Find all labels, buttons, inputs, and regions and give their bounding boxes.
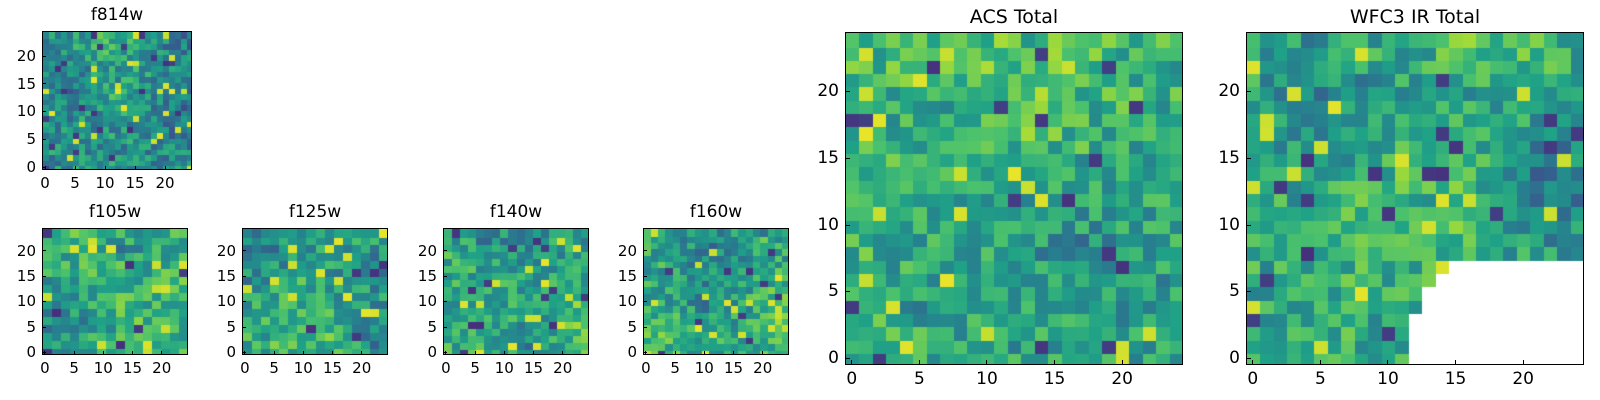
ytick-acs-total-4	[845, 91, 850, 92]
panel-title-wfc3-ir-total: WFC3 IR Total	[1246, 6, 1584, 28]
heatmap-axes-f160w	[643, 228, 789, 355]
xtick-label-f160w-4: 20	[733, 359, 793, 377]
ytick-label-f140w-2: 10	[399, 292, 437, 310]
xtick-label-f140w-4: 20	[533, 359, 593, 377]
heatmap-axes-acs-total	[845, 32, 1183, 365]
panel-f160w: f160w0510152005101520	[603, 202, 799, 379]
ytick-label-acs-total-1: 5	[801, 281, 839, 301]
heatmap-image-f160w	[644, 229, 789, 355]
ytick-label-wfc3-ir-total-0: 0	[1202, 348, 1240, 368]
panel-title-acs-total: ACS Total	[845, 6, 1183, 28]
xtick-f105w-2	[103, 351, 104, 355]
xtick-f125w-2	[303, 351, 304, 355]
ytick-label-f814w-3: 15	[0, 75, 36, 93]
ytick-f105w-0	[42, 352, 46, 353]
panel-title-f814w: f814w	[42, 5, 192, 25]
ytick-acs-total-0	[845, 358, 850, 359]
ytick-wfc3-ir-total-1	[1246, 291, 1251, 292]
ytick-label-f125w-0: 0	[198, 343, 236, 361]
ytick-f160w-0	[643, 352, 647, 353]
ytick-f160w-4	[643, 250, 647, 251]
panel-wfc3-ir-total: WFC3 IR Total0510152005101520	[1206, 6, 1594, 389]
xtick-label-acs-total-0: 0	[822, 369, 882, 389]
ytick-label-acs-total-2: 10	[801, 215, 839, 235]
ytick-acs-total-3	[845, 158, 850, 159]
xtick-acs-total-4	[1122, 360, 1123, 365]
ytick-wfc3-ir-total-0	[1246, 358, 1251, 359]
xtick-f814w-1	[75, 166, 76, 170]
panel-f140w: f140w0510152005101520	[403, 202, 599, 379]
panel-title-f105w: f105w	[42, 202, 188, 222]
ytick-label-f105w-4: 20	[0, 242, 36, 260]
xtick-f140w-1	[475, 351, 476, 355]
xtick-f105w-3	[132, 351, 133, 355]
xtick-wfc3-ir-total-2	[1387, 360, 1388, 365]
ytick-label-f814w-4: 20	[0, 47, 36, 65]
ytick-f814w-1	[42, 139, 46, 140]
ytick-label-f160w-4: 20	[599, 242, 637, 260]
ytick-label-acs-total-3: 15	[801, 148, 839, 168]
ytick-f814w-0	[42, 167, 46, 168]
ytick-wfc3-ir-total-2	[1246, 225, 1251, 226]
xtick-label-wfc3-ir-total-0: 0	[1223, 369, 1283, 389]
ytick-acs-total-1	[845, 291, 850, 292]
ytick-f140w-2	[443, 301, 447, 302]
ytick-f105w-2	[42, 301, 46, 302]
ytick-f160w-2	[643, 301, 647, 302]
xtick-label-wfc3-ir-total-1: 5	[1290, 369, 1350, 389]
ytick-wfc3-ir-total-4	[1246, 91, 1251, 92]
heatmap-image-f140w	[444, 229, 589, 355]
xtick-f140w-2	[504, 351, 505, 355]
xtick-f105w-1	[74, 351, 75, 355]
ytick-label-f140w-4: 20	[399, 242, 437, 260]
ytick-label-f160w-2: 10	[599, 292, 637, 310]
panel-f105w: f105w0510152005101520	[2, 202, 198, 379]
heatmap-image-f105w	[43, 229, 188, 355]
ytick-f125w-0	[242, 352, 246, 353]
xtick-label-acs-total-2: 10	[957, 369, 1017, 389]
xtick-f140w-3	[533, 351, 534, 355]
xtick-f814w-4	[165, 166, 166, 170]
ytick-wfc3-ir-total-3	[1246, 158, 1251, 159]
heatmap-image-f814w	[43, 32, 192, 170]
ytick-label-acs-total-4: 20	[801, 81, 839, 101]
xtick-f140w-4	[562, 351, 563, 355]
ytick-f140w-4	[443, 250, 447, 251]
heatmap-axes-f140w	[443, 228, 589, 355]
xtick-acs-total-2	[986, 360, 987, 365]
ytick-f125w-4	[242, 250, 246, 251]
xtick-f814w-2	[105, 166, 106, 170]
ytick-label-f814w-0: 0	[0, 158, 36, 176]
ytick-label-f140w-0: 0	[399, 343, 437, 361]
panel-title-f125w: f125w	[242, 202, 388, 222]
ytick-label-wfc3-ir-total-1: 5	[1202, 281, 1240, 301]
ytick-acs-total-2	[845, 225, 850, 226]
ytick-label-f814w-2: 10	[0, 102, 36, 120]
xtick-acs-total-3	[1054, 360, 1055, 365]
xtick-f160w-4	[762, 351, 763, 355]
xtick-acs-total-0	[851, 360, 852, 365]
panel-title-f160w: f160w	[643, 202, 789, 222]
ytick-label-f125w-1: 5	[198, 318, 236, 336]
heatmap-axes-f814w	[42, 31, 192, 170]
xtick-label-f125w-4: 20	[332, 359, 392, 377]
heatmap-image-f125w	[243, 229, 388, 355]
ytick-f140w-0	[443, 352, 447, 353]
panel-f814w: f814w0510152005101520	[2, 5, 202, 194]
ytick-label-wfc3-ir-total-3: 15	[1202, 148, 1240, 168]
ytick-label-f125w-3: 15	[198, 267, 236, 285]
ytick-label-f140w-3: 15	[399, 267, 437, 285]
xtick-f125w-1	[274, 351, 275, 355]
xtick-label-acs-total-1: 5	[889, 369, 949, 389]
ytick-f105w-3	[42, 276, 46, 277]
ytick-label-f160w-3: 15	[599, 267, 637, 285]
ytick-label-wfc3-ir-total-2: 10	[1202, 215, 1240, 235]
heatmap-axes-f125w	[242, 228, 388, 355]
ytick-f140w-1	[443, 327, 447, 328]
heatmap-image-wfc3-ir-total	[1247, 33, 1584, 365]
ytick-label-acs-total-0: 0	[801, 348, 839, 368]
xtick-label-acs-total-3: 15	[1025, 369, 1085, 389]
xtick-label-wfc3-ir-total-2: 10	[1358, 369, 1418, 389]
ytick-label-f105w-3: 15	[0, 267, 36, 285]
xtick-wfc3-ir-total-1	[1320, 360, 1321, 365]
xtick-wfc3-ir-total-3	[1455, 360, 1456, 365]
xtick-f105w-4	[161, 351, 162, 355]
ytick-label-wfc3-ir-total-4: 20	[1202, 81, 1240, 101]
ytick-f105w-1	[42, 327, 46, 328]
xtick-f160w-1	[675, 351, 676, 355]
ytick-label-f814w-1: 5	[0, 130, 36, 148]
heatmap-image-acs-total	[846, 33, 1183, 365]
xtick-label-acs-total-4: 20	[1092, 369, 1152, 389]
ytick-f160w-3	[643, 276, 647, 277]
xtick-f160w-3	[733, 351, 734, 355]
ytick-f140w-3	[443, 276, 447, 277]
ytick-label-f160w-0: 0	[599, 343, 637, 361]
xtick-label-wfc3-ir-total-3: 15	[1426, 369, 1486, 389]
xtick-wfc3-ir-total-4	[1523, 360, 1524, 365]
xtick-f160w-2	[704, 351, 705, 355]
ytick-f160w-1	[643, 327, 647, 328]
panel-title-f140w: f140w	[443, 202, 589, 222]
ytick-label-f105w-0: 0	[0, 343, 36, 361]
heatmap-axes-wfc3-ir-total	[1246, 32, 1584, 365]
ytick-f125w-2	[242, 301, 246, 302]
ytick-label-f125w-4: 20	[198, 242, 236, 260]
xtick-wfc3-ir-total-0	[1252, 360, 1253, 365]
ytick-f125w-3	[242, 276, 246, 277]
ytick-f814w-3	[42, 83, 46, 84]
ytick-label-f105w-2: 10	[0, 292, 36, 310]
ytick-f814w-2	[42, 111, 46, 112]
ytick-f105w-4	[42, 250, 46, 251]
ytick-label-f160w-1: 5	[599, 318, 637, 336]
xtick-label-f814w-4: 20	[135, 174, 195, 192]
panel-f125w: f125w0510152005101520	[202, 202, 398, 379]
xtick-label-wfc3-ir-total-4: 20	[1493, 369, 1553, 389]
panel-acs-total: ACS Total0510152005101520	[805, 6, 1193, 389]
ytick-f814w-4	[42, 56, 46, 57]
ytick-label-f125w-2: 10	[198, 292, 236, 310]
xtick-acs-total-1	[919, 360, 920, 365]
ytick-label-f140w-1: 5	[399, 318, 437, 336]
xtick-f125w-4	[361, 351, 362, 355]
xtick-f125w-3	[332, 351, 333, 355]
ytick-label-f105w-1: 5	[0, 318, 36, 336]
xtick-f814w-3	[135, 166, 136, 170]
xtick-label-f105w-4: 20	[132, 359, 192, 377]
heatmap-axes-f105w	[42, 228, 188, 355]
ytick-f125w-1	[242, 327, 246, 328]
